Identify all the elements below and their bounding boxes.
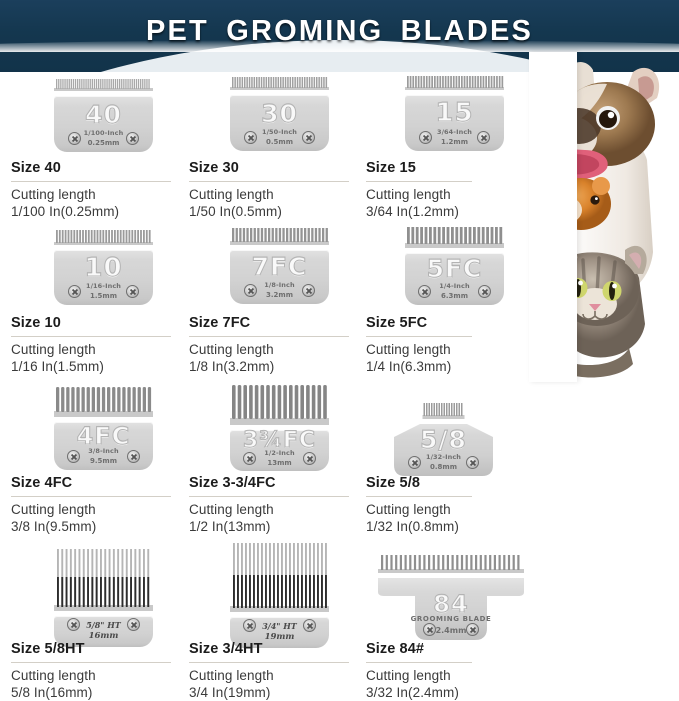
screw-icon	[466, 623, 479, 636]
blade-stage: 3/4" HT 19mm	[189, 541, 357, 639]
screw-icon	[302, 131, 315, 144]
blade-image-7fc: 7FC 1/8-Inch 3.2mm	[230, 228, 329, 304]
blade-size-title: Size 7FC	[189, 315, 357, 332]
blade-stage: 7FC 1/8-Inch 3.2mm	[189, 227, 357, 313]
blade-size-title: Size 3/4HT	[189, 641, 357, 658]
blade-teeth	[230, 541, 329, 612]
screw-icon	[244, 284, 257, 297]
blade-image-84: 84 GROOMING BLADE 2.4mm	[378, 555, 524, 640]
blade-image-4fc: 4FC 3/8-Inch 9.5mm	[54, 387, 153, 470]
blade-teeth	[230, 385, 329, 425]
blade-row: 4FC 3/8-Inch 9.5mm Size 4FC Cutting leng…	[0, 381, 679, 535]
divider	[189, 336, 349, 337]
blade-cell-40: 40 1/100-Inch 0.25mm Size 40 Cutting len…	[0, 72, 179, 220]
cutting-length-value: 3/4 In(19mm)	[189, 685, 357, 701]
blade-engraving: 5/8	[394, 425, 493, 454]
cutting-length-value: 1/32 In(0.8mm)	[366, 519, 679, 536]
blade-stage: 5/8" HT 16mm	[11, 541, 179, 639]
screw-icon	[243, 619, 256, 632]
cutting-length-label: Cutting length	[189, 342, 357, 359]
blade-cell-58ht: 5/8" HT 16mm Size 5/8HT Cutting length 5…	[0, 541, 179, 701]
page-title: PET GROMING BLADES	[0, 15, 679, 48]
cutting-length-value: 5/8 In(16mm)	[11, 685, 179, 701]
blade-row: 5/8" HT 16mm Size 5/8HT Cutting length 5…	[0, 541, 679, 701]
blade-size-title: Size 3-3/4FC	[189, 475, 357, 492]
blade-stage: 15 3/64-Inch 1.2mm	[366, 72, 679, 158]
blade-cell-84: 84 GROOMING BLADE 2.4mm Size 84# Cutting…	[357, 541, 679, 701]
screw-icon	[303, 619, 316, 632]
cutting-length-label: Cutting length	[189, 187, 357, 204]
blade-row: 40 1/100-Inch 0.25mm Size 40 Cutting len…	[0, 72, 679, 220]
divider	[11, 181, 171, 182]
cutting-length-value: 1/50 In(0.5mm)	[189, 204, 357, 221]
cutting-length-value: 1/2 In(13mm)	[189, 519, 357, 536]
cutting-length-label: Cutting length	[11, 502, 179, 519]
blade-size-title: Size 84#	[366, 641, 679, 658]
blade-sub-engraving: GROOMING BLADE	[378, 615, 524, 623]
blade-engraving: 40	[54, 100, 153, 129]
blade-teeth	[54, 230, 153, 245]
screw-icon	[68, 285, 81, 298]
blade-cell-34ht: 3/4" HT 19mm Size 3/4HT Cutting length 3…	[179, 541, 357, 701]
cutting-length-value: 1/8 In(3.2mm)	[189, 359, 357, 376]
blade-teeth	[378, 555, 524, 573]
blade-image-30: 30 1/50-Inch 0.5mm	[230, 77, 329, 151]
screw-icon	[127, 450, 140, 463]
blade-cell-15: 15 3/64-Inch 1.2mm Size 15 Cutting lengt…	[357, 72, 679, 220]
screw-icon	[423, 623, 436, 636]
blade-stage: 4FC 3/8-Inch 9.5mm	[11, 381, 179, 473]
blade-cell-5fc: 5FC 1/4-Inch 6.3mm Size 5FC Cutting leng…	[357, 227, 679, 375]
blade-stage: 5/8 1/32-Inch 0.8mm	[366, 381, 679, 473]
cutting-length-label: Cutting length	[366, 187, 679, 204]
screw-icon	[243, 452, 256, 465]
cutting-length-value: 1/16 In(1.5mm)	[11, 359, 179, 376]
divider	[11, 662, 171, 663]
blade-teeth	[405, 76, 504, 90]
blade-image-10: 10 1/16-Inch 1.5mm	[54, 230, 153, 305]
cutting-length-value: 3/64 In(1.2mm)	[366, 204, 679, 221]
divider	[189, 496, 349, 497]
blade-teeth	[54, 547, 153, 611]
blade-label: Size 7FC Cutting length 1/8 In(3.2mm)	[189, 313, 357, 375]
blade-stage: 84 GROOMING BLADE 2.4mm	[366, 541, 679, 639]
cutting-length-label: Cutting length	[11, 342, 179, 359]
blade-cell-334fc: 3¾FC 1/2-Inch 13mm Size 3-3/4FC Cutting …	[179, 381, 357, 535]
blade-teeth	[394, 403, 493, 419]
blade-size-title: Size 30	[189, 160, 357, 177]
blade-image-58ht: 5/8" HT 16mm	[54, 547, 153, 647]
cutting-length-label: Cutting length	[366, 342, 679, 359]
screw-icon	[244, 131, 257, 144]
screw-icon	[127, 618, 140, 631]
blade-engraving: 84	[378, 590, 524, 618]
blade-cell-7fc: 7FC 1/8-Inch 3.2mm Size 7FC Cutting leng…	[179, 227, 357, 375]
cutting-length-label: Cutting length	[366, 668, 679, 685]
blade-engraving: 7FC	[230, 252, 329, 281]
blade-cell-58: 5/8 1/32-Inch 0.8mm Size 5/8 Cutting len…	[357, 381, 679, 535]
blade-image-15: 15 3/64-Inch 1.2mm	[405, 76, 504, 151]
blade-label: Size 15 Cutting length 3/64 In(1.2mm)	[366, 158, 679, 220]
screw-icon	[126, 285, 139, 298]
divider	[189, 181, 349, 182]
blade-stage: 3¾FC 1/2-Inch 13mm	[189, 381, 357, 473]
blade-stage: 5FC 1/4-Inch 6.3mm	[366, 227, 679, 313]
divider	[366, 662, 472, 663]
blade-teeth	[230, 228, 329, 245]
screw-icon	[302, 284, 315, 297]
blade-stage: 30 1/50-Inch 0.5mm	[189, 72, 357, 158]
blade-size-title: Size 40	[11, 160, 179, 177]
screw-icon	[126, 132, 139, 145]
blade-engraving: 5FC	[405, 254, 504, 283]
blade-label: Size 3/4HT Cutting length 3/4 In(19mm)	[189, 639, 357, 701]
blade-engraving: 10	[54, 253, 153, 283]
blade-size-title: Size 4FC	[11, 475, 179, 492]
blade-row: 10 1/16-Inch 1.5mm Size 10 Cutting lengt…	[0, 227, 679, 375]
blade-engraving: 15	[405, 98, 504, 128]
blade-teeth	[230, 77, 329, 90]
divider	[366, 181, 472, 182]
blade-image-5fc: 5FC 1/4-Inch 6.3mm	[405, 227, 504, 305]
divider	[11, 336, 171, 337]
blade-stage: 40 1/100-Inch 0.25mm	[11, 72, 179, 158]
screw-icon	[419, 131, 432, 144]
blade-cell-30: 30 1/50-Inch 0.5mm Size 30 Cutting lengt…	[179, 72, 357, 220]
screw-icon	[408, 456, 421, 469]
cutting-length-value: 1/4 In(6.3mm)	[366, 359, 679, 376]
blade-size-title: Size 5FC	[366, 315, 679, 332]
blade-label: Size 30 Cutting length 1/50 In(0.5mm)	[189, 158, 357, 220]
blade-label: Size 4FC Cutting length 3/8 In(9.5mm)	[11, 473, 179, 535]
screw-icon	[478, 285, 491, 298]
blade-teeth	[54, 387, 153, 417]
blade-image-58: 5/8 1/32-Inch 0.8mm	[394, 403, 493, 476]
screw-icon	[418, 285, 431, 298]
blade-label: Size 84# Cutting length 3/32 In(2.4mm)	[366, 639, 679, 701]
cutting-length-label: Cutting length	[11, 668, 179, 685]
cutting-length-label: Cutting length	[11, 187, 179, 204]
blade-size-title: Size 5/8HT	[11, 641, 179, 658]
blade-label: Size 5/8HT Cutting length 5/8 In(16mm)	[11, 639, 179, 701]
cutting-length-label: Cutting length	[189, 668, 357, 685]
blade-image-334fc: 3¾FC 1/2-Inch 13mm	[230, 385, 329, 471]
divider	[366, 496, 472, 497]
blade-label: Size 40 Cutting length 1/100 In(0.25mm)	[11, 158, 179, 220]
screw-icon	[466, 456, 479, 469]
blade-stage: 10 1/16-Inch 1.5mm	[11, 227, 179, 313]
screw-icon	[67, 450, 80, 463]
blade-grid: 40 1/100-Inch 0.25mm Size 40 Cutting len…	[0, 72, 679, 701]
blade-engraving: 30	[230, 99, 329, 128]
blade-size-title: Size 15	[366, 160, 679, 177]
divider	[366, 336, 472, 337]
divider	[189, 662, 349, 663]
blade-size-title: Size 5/8	[366, 475, 679, 492]
blade-label: Size 3-3/4FC Cutting length 1/2 In(13mm)	[189, 473, 357, 535]
blade-cell-4fc: 4FC 3/8-Inch 9.5mm Size 4FC Cutting leng…	[0, 381, 179, 535]
blade-teeth	[405, 227, 504, 248]
screw-icon	[477, 131, 490, 144]
blade-teeth	[54, 79, 153, 91]
blade-image-40: 40 1/100-Inch 0.25mm	[54, 78, 153, 152]
blade-image-34ht: 3/4" HT 19mm	[230, 541, 329, 648]
blade-cell-10: 10 1/16-Inch 1.5mm Size 10 Cutting lengt…	[0, 227, 179, 375]
screw-icon	[303, 452, 316, 465]
blade-engraving: 4FC	[54, 422, 153, 450]
cutting-length-value: 1/100 In(0.25mm)	[11, 204, 179, 221]
cutting-length-label: Cutting length	[366, 502, 679, 519]
screw-icon	[68, 132, 81, 145]
cutting-length-label: Cutting length	[189, 502, 357, 519]
divider	[11, 496, 171, 497]
blade-label: Size 5/8 Cutting length 1/32 In(0.8mm)	[366, 473, 679, 535]
blade-label: Size 5FC Cutting length 1/4 In(6.3mm)	[366, 313, 679, 375]
blade-label: Size 10 Cutting length 1/16 In(1.5mm)	[11, 313, 179, 375]
blade-size-title: Size 10	[11, 315, 179, 332]
cutting-length-value: 3/8 In(9.5mm)	[11, 519, 179, 536]
blade-spec-mm: 2.4mm	[378, 626, 524, 635]
cutting-length-value: 3/32 In(2.4mm)	[366, 685, 679, 701]
screw-icon	[67, 618, 80, 631]
photo-white-edge	[529, 52, 577, 382]
